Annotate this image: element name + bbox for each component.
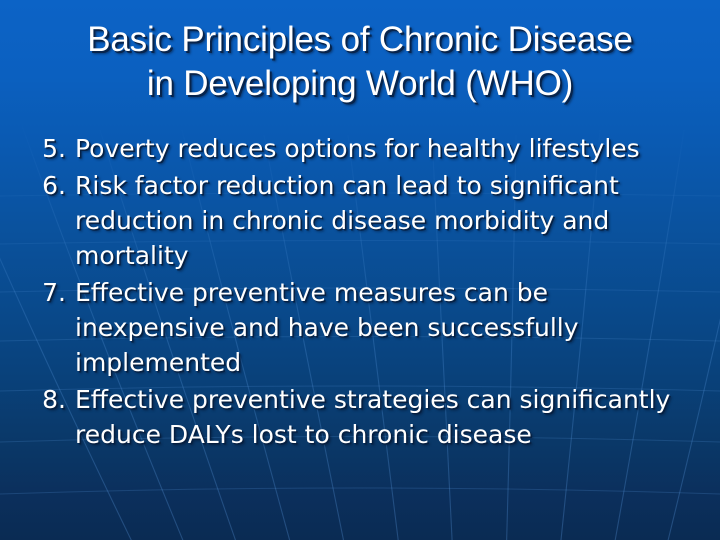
list-item-text: Poverty reduces options for healthy life… [75,131,686,166]
list-item-text: Effective preventive strategies can sign… [75,382,686,452]
list-item-number: 8. [36,382,66,417]
list-item: 7. Effective preventive measures can be … [36,275,686,380]
list-item-number: 6. [36,168,66,203]
list-item-text: Effective preventive measures can be ine… [75,275,686,380]
list-item-text: Risk factor reduction can lead to signif… [75,168,686,273]
list-item: 8. Effective preventive strategies can s… [36,382,686,452]
slide-title-line-2: in Developing World (WHO) [0,62,720,106]
slide-title: Basic Principles of Chronic Disease in D… [0,18,720,106]
list-item: 5. Poverty reduces options for healthy l… [36,131,686,166]
slide-body-list: 5. Poverty reduces options for healthy l… [36,131,686,454]
presentation-slide: Basic Principles of Chronic Disease in D… [0,0,720,540]
slide-title-line-1: Basic Principles of Chronic Disease [0,18,720,62]
list-item-number: 7. [36,275,66,310]
list-item-number: 5. [36,131,66,166]
list-item: 6. Risk factor reduction can lead to sig… [36,168,686,273]
